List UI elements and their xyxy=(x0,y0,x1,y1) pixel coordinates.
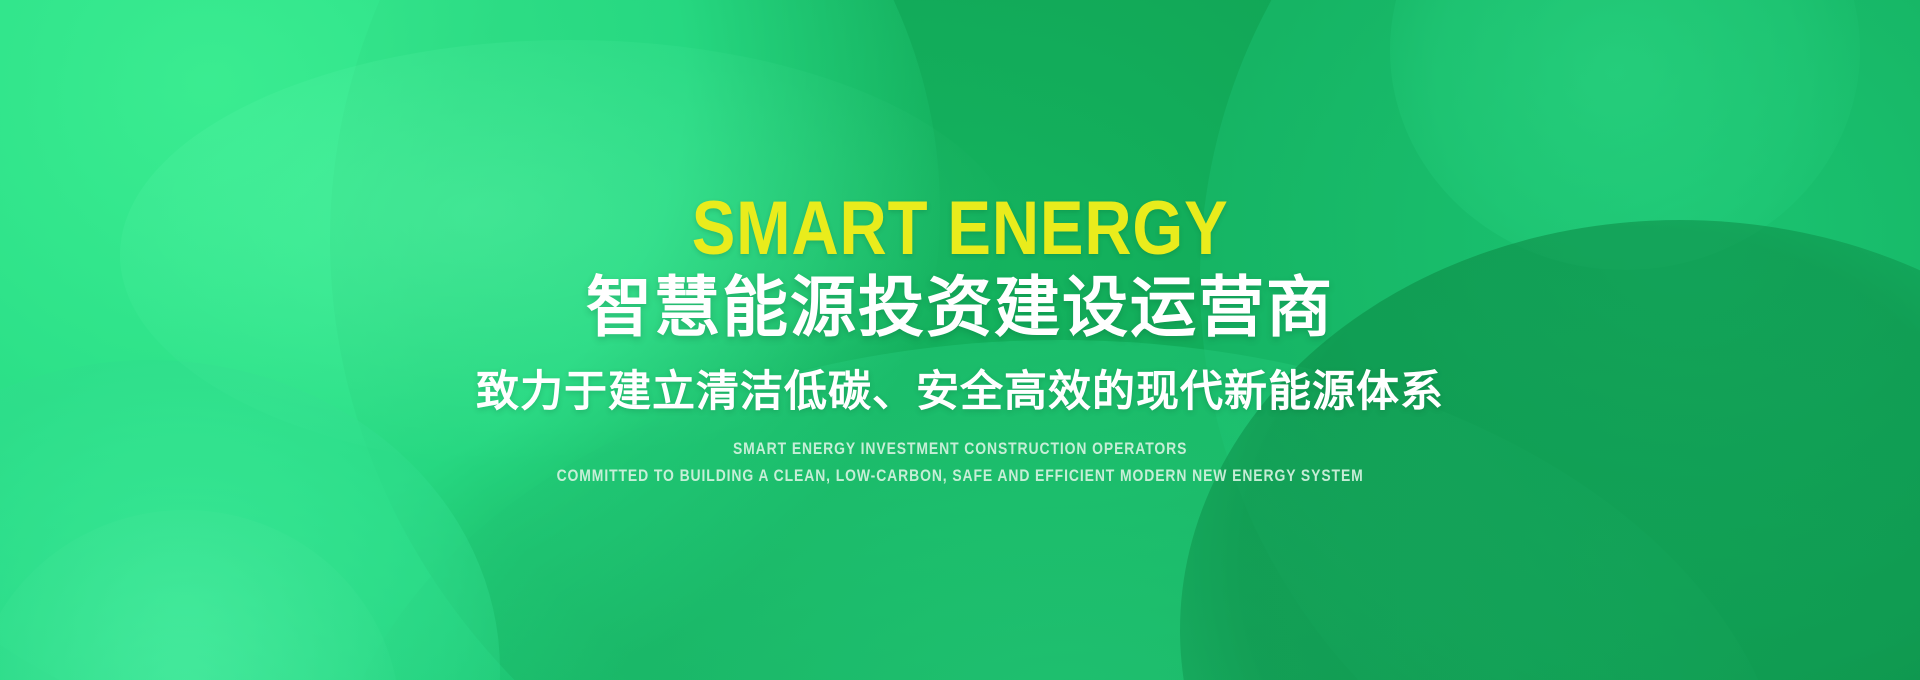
banner-subtitle-english-line-2: COMMITTED TO BUILDING A CLEAN, LOW-CARBO… xyxy=(556,463,1363,489)
banner-subtitle-english-line-1: SMART ENERGY INVESTMENT CONSTRUCTION OPE… xyxy=(556,436,1363,462)
banner-subtitle-english-group: SMART ENERGY INVESTMENT CONSTRUCTION OPE… xyxy=(468,436,1452,489)
banner-title-chinese: 智慧能源投资建设运营商 xyxy=(586,271,1334,345)
banner-title-english: SMART ENERGY xyxy=(692,191,1229,267)
banner-subtitle-chinese: 致力于建立清洁低碳、安全高效的现代新能源体系 xyxy=(476,367,1444,419)
hero-banner: SMART ENERGY 智慧能源投资建设运营商 致力于建立清洁低碳、安全高效的… xyxy=(0,0,1920,680)
banner-content: SMART ENERGY 智慧能源投资建设运营商 致力于建立清洁低碳、安全高效的… xyxy=(0,0,1920,680)
